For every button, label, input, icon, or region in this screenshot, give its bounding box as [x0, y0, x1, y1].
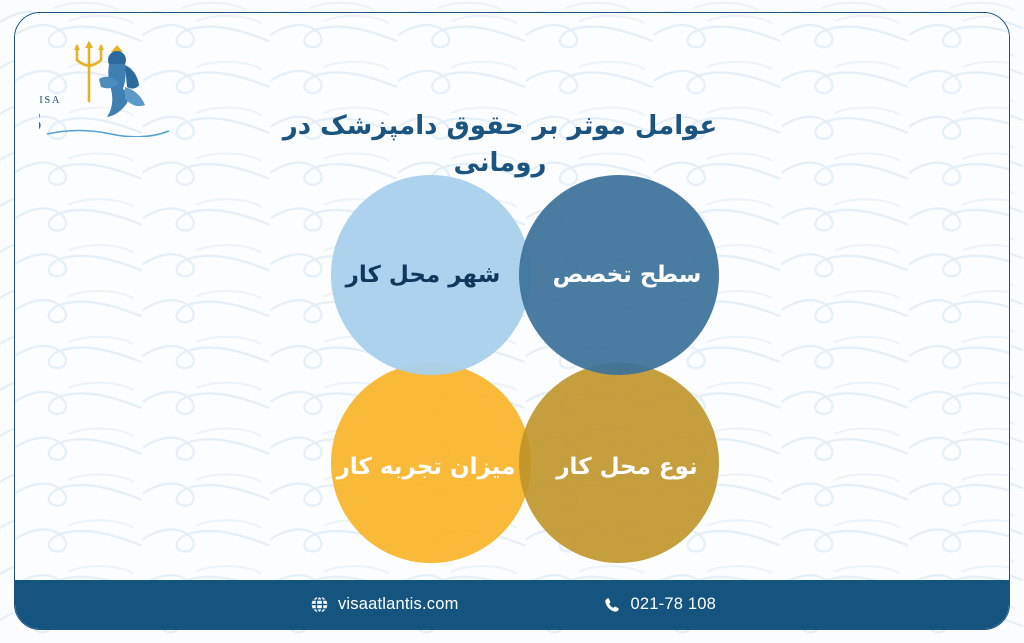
phone-icon [603, 595, 622, 614]
footer-website-label: visaatlantis.com [338, 595, 459, 614]
content-card: VISA ATLANTIS عوامل موثر بر حقوق دامپزشک… [14, 12, 1010, 630]
footer-phone-link[interactable]: 021-78 108 [603, 595, 717, 614]
brand-logo: VISA ATLANTIS [39, 31, 175, 137]
page-canvas: VISA ATLANTIS عوامل موثر بر حقوق دامپزشک… [0, 0, 1024, 643]
footer-bar: visaatlantis.com 021-78 108 [15, 580, 1010, 629]
poseidon-figure-icon [99, 45, 145, 117]
footer-website-link[interactable]: visaatlantis.com [310, 595, 459, 614]
circle-bottom-right [519, 363, 719, 563]
circle-bottom-left [331, 363, 531, 563]
trident-icon [74, 41, 104, 101]
footer-phone-label: 021-78 108 [631, 595, 717, 614]
circle-top-right [519, 175, 719, 375]
venn-diagram: شهر محل کار سطح تخصص میزان تجربه کار نوع… [323, 167, 727, 571]
logo-visa-text: VISA [39, 95, 61, 106]
logo-atlantis-text: ATLANTIS [39, 109, 43, 136]
globe-icon [310, 595, 329, 614]
circle-top-left [331, 175, 531, 375]
